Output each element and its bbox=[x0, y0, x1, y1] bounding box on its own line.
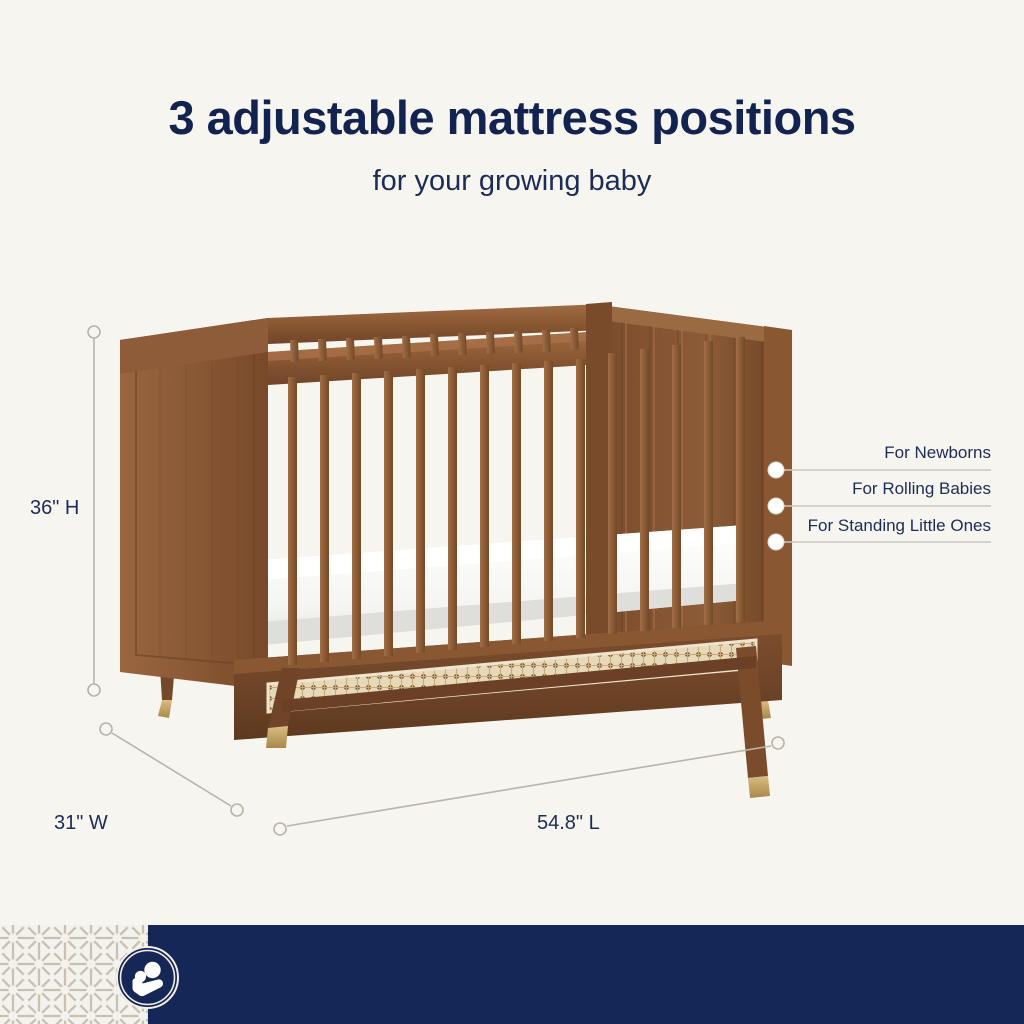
banner-navy-field bbox=[148, 925, 1024, 1024]
position-dot-3 bbox=[768, 534, 784, 550]
width-measure-line bbox=[112, 733, 231, 806]
position-dots bbox=[768, 462, 784, 550]
length-measure-line bbox=[287, 746, 771, 826]
position-label-standing-little-ones: For Standing Little Ones bbox=[808, 516, 991, 536]
dimension-label-width: 31" W bbox=[54, 812, 108, 835]
position-label-rolling-babies: For Rolling Babies bbox=[852, 479, 991, 499]
position-label-newborns: For Newborns bbox=[884, 443, 991, 463]
dimension-label-height: 36" H bbox=[30, 497, 79, 520]
crib-product-image bbox=[0, 0, 1024, 1024]
parent-and-baby-icon bbox=[118, 948, 177, 1007]
position-dot-2 bbox=[768, 498, 784, 514]
dimension-label-length: 54.8" L bbox=[537, 812, 600, 835]
crib-near-end-panel bbox=[120, 318, 268, 690]
position-dot-1 bbox=[768, 462, 784, 478]
infographic-canvas: 3 adjustable mattress positions for your… bbox=[0, 0, 1024, 1024]
crib-front-slats bbox=[288, 337, 745, 665]
brand-logo-badge bbox=[116, 946, 179, 1009]
